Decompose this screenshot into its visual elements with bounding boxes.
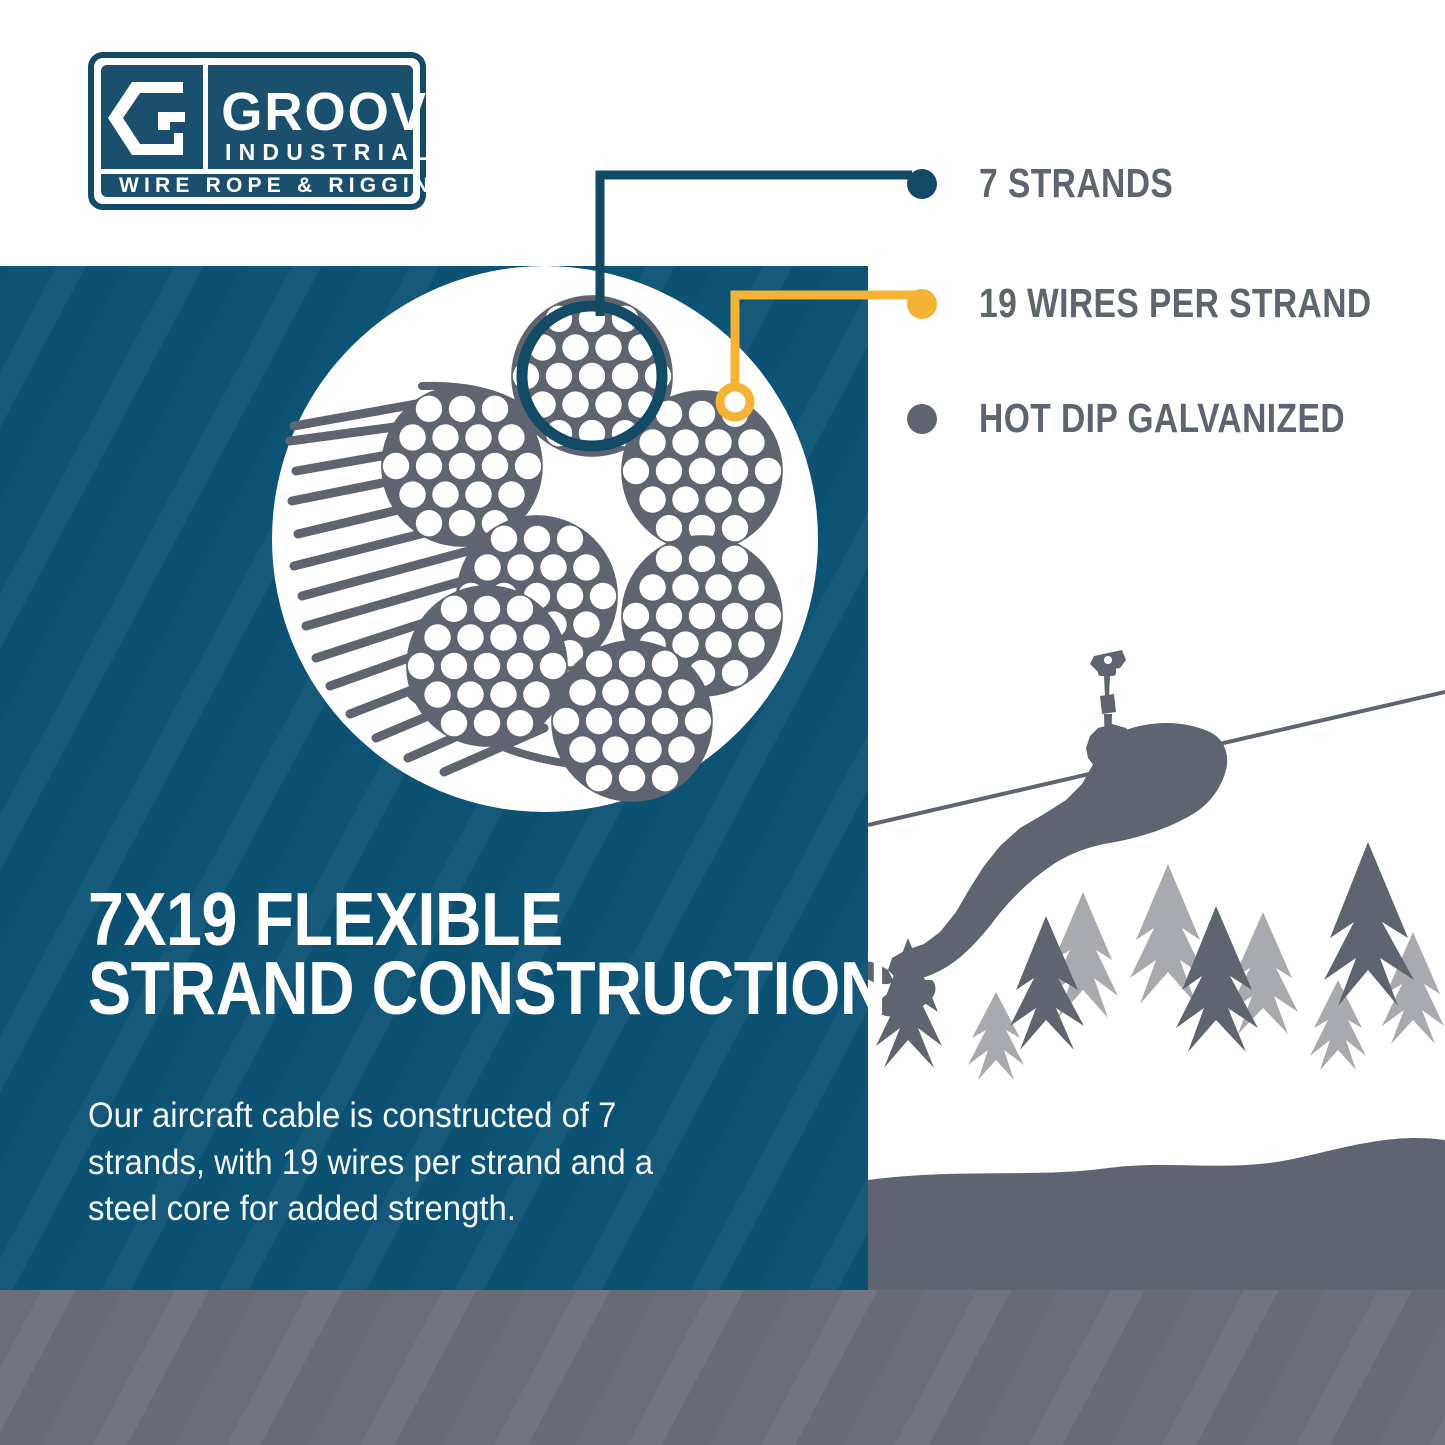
bottom-bar-stripes	[0, 1290, 1445, 1445]
headline-line-2: STRAND CONSTRUCTION	[88, 954, 742, 1023]
zipline-trolley-icon	[1090, 650, 1126, 672]
callout-label: HOT DIP GALVANIZED	[979, 395, 1345, 442]
filled-dot-icon	[907, 404, 937, 434]
body-paragraph: Our aircraft cable is constructed of 7 s…	[88, 1093, 708, 1233]
callout-label: 19 WIRES PER STRAND	[979, 280, 1372, 327]
filled-dot-icon	[907, 289, 937, 319]
zipline-scene	[868, 620, 1445, 1290]
callout-hot-dip[interactable]: HOT DIP GALVANIZED	[907, 395, 1425, 442]
headline-line-1: 7X19 FLEXIBLE	[88, 885, 742, 954]
filled-dot-icon	[907, 169, 937, 199]
infographic-canvas: GROOVE INDUSTRIAL WIRE ROPE & RIGGING	[0, 0, 1445, 1445]
strand-7	[551, 640, 713, 802]
page-title: 7X19 FLEXIBLE STRAND CONSTRUCTION	[88, 885, 742, 1023]
callout-19-wires[interactable]: 19 WIRES PER STRAND	[907, 280, 1445, 327]
callout-7-strands[interactable]: 7 STRANDS	[907, 160, 1216, 207]
amber-anchor-ring	[720, 387, 750, 417]
bottom-grey-bar	[0, 1290, 1445, 1445]
callout-label: 7 STRANDS	[979, 160, 1173, 207]
strand-6	[406, 585, 568, 747]
